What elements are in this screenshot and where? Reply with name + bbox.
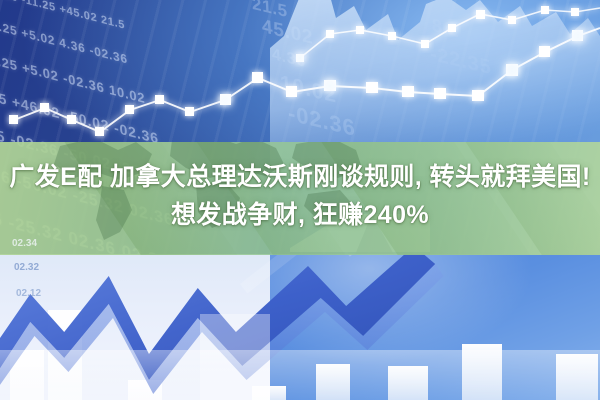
bar-chart-graphic [0,254,600,400]
small-number: 02.12 [16,288,41,299]
green-overlay-band [0,142,600,255]
bottom-graphic-area [0,254,600,400]
small-number: 02.32 [14,262,39,273]
world-map-silhouette [40,142,370,248]
banner-image: +09.06 -09.36 -11.25 +45.02 21.5 -09.36 … [0,0,600,400]
small-number: 02.34 [12,238,37,249]
